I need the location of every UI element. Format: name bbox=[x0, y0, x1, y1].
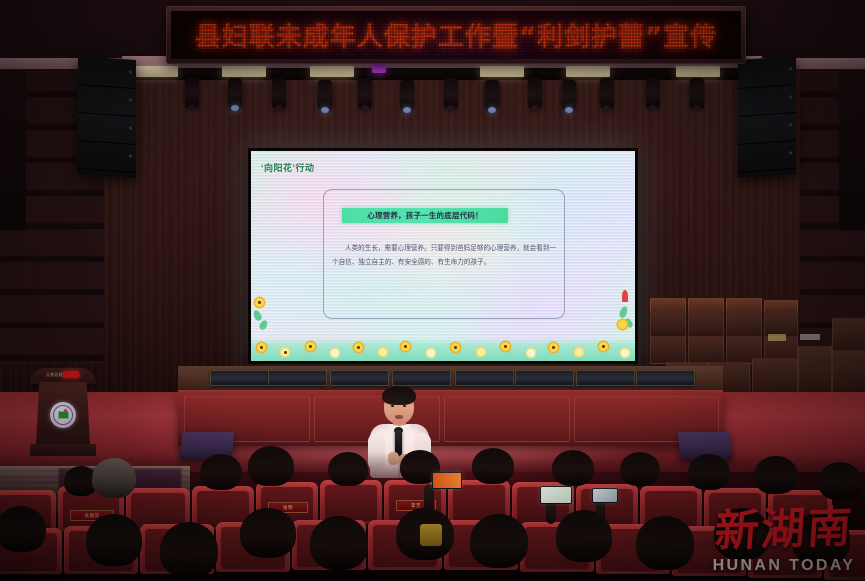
audience-head bbox=[0, 506, 46, 552]
name-placard bbox=[210, 370, 269, 386]
audience-head bbox=[160, 522, 218, 578]
name-placard bbox=[636, 370, 695, 386]
moving-head-light bbox=[646, 78, 660, 108]
moving-head-light bbox=[562, 80, 576, 110]
moving-head-light bbox=[528, 78, 542, 108]
audience-head bbox=[472, 448, 514, 484]
led-banner-screen: 县妇联未成年人保护工作暨“利剑护蕾”宣传 bbox=[171, 11, 741, 59]
audience-head bbox=[688, 454, 730, 490]
handbag bbox=[420, 524, 442, 546]
audience-head bbox=[636, 516, 694, 570]
audience-head bbox=[240, 508, 296, 558]
name-placard bbox=[455, 370, 514, 386]
moving-head-light bbox=[185, 78, 199, 108]
phone-recording bbox=[432, 472, 462, 489]
phone-recording bbox=[592, 488, 618, 503]
audience-head bbox=[86, 514, 142, 566]
name-placard bbox=[268, 370, 327, 386]
audience-head bbox=[754, 456, 798, 494]
box-light bbox=[134, 66, 178, 77]
box-light bbox=[566, 66, 610, 77]
line-array-speaker-left bbox=[78, 56, 136, 178]
box-light bbox=[222, 66, 266, 77]
podium-emblem-icon bbox=[50, 402, 76, 428]
watermark-chinese: 新湖南 bbox=[713, 506, 855, 555]
slide-header-label: ‘向阳花’行动 bbox=[261, 161, 315, 174]
projection-screen: ‘向阳花’行动 心理营养，孩子一生的底层代码！ 人类的生长，需要心理营养。只要得… bbox=[248, 148, 638, 364]
box-light bbox=[676, 66, 720, 77]
audience-head bbox=[328, 452, 368, 486]
led-banner: 县妇联未成年人保护工作暨“利剑护蕾”宣传 bbox=[166, 6, 746, 64]
moving-head-light bbox=[228, 78, 242, 108]
podium-top: 沅陵县融媒体中心 bbox=[30, 368, 96, 384]
audience-head bbox=[310, 516, 368, 570]
audience-head bbox=[248, 446, 294, 486]
slide-flower-border bbox=[251, 338, 635, 361]
audience-head bbox=[552, 450, 594, 486]
watermark-english: HUNAN TODAY bbox=[713, 557, 856, 575]
name-placard bbox=[330, 370, 389, 386]
led-banner-text: 县妇联未成年人保护工作暨“利剑护蕾”宣传 bbox=[171, 17, 741, 54]
line-array-speaker-right bbox=[738, 56, 796, 178]
audience-head bbox=[200, 454, 242, 490]
watermark: 新湖南 HUNAN TODAY bbox=[709, 495, 859, 575]
moving-head-light bbox=[690, 78, 704, 108]
podium-led-indicator bbox=[63, 371, 79, 378]
audience-head bbox=[92, 458, 136, 498]
moving-head-light bbox=[485, 80, 499, 110]
slide-vine-left bbox=[253, 296, 269, 338]
audience-head bbox=[620, 452, 660, 486]
presenter-hair bbox=[382, 386, 416, 405]
name-placard bbox=[392, 370, 451, 386]
slide-content-box: 心理营养，孩子一生的底层代码！ 人类的生长，需要心理营养。只要得到爸妈足够的心理… bbox=[323, 189, 565, 319]
name-placard bbox=[576, 370, 635, 386]
moving-head-light bbox=[600, 78, 614, 108]
moving-head-light bbox=[272, 78, 286, 108]
phone-recording bbox=[540, 486, 572, 504]
slide-vine-right bbox=[617, 290, 633, 338]
slide-body-text: 人类的生长，需要心理营养。只要得到爸妈足够的心理营养，就会看到一个自信、独立自主… bbox=[332, 242, 556, 270]
presenter-mouth bbox=[395, 415, 403, 419]
side-wall-speaker-left bbox=[0, 70, 26, 230]
accent-light-magenta bbox=[372, 64, 386, 73]
box-light bbox=[480, 66, 524, 77]
slide-surface: ‘向阳花’行动 心理营养，孩子一生的底层代码！ 人类的生长，需要心理营养。只要得… bbox=[251, 151, 635, 361]
slide-title-banner: 心理营养，孩子一生的底层代码！ bbox=[342, 208, 508, 223]
screenshot-root: 县妇联未成年人保护工作暨“利剑护蕾”宣传 ‘向阳花’行动 心理营养，孩子一生的底… bbox=[0, 0, 865, 581]
moving-head-light bbox=[318, 80, 332, 110]
lighting-truss bbox=[110, 68, 770, 80]
side-wall-speaker-right bbox=[839, 70, 865, 230]
box-light bbox=[310, 66, 354, 77]
name-placard bbox=[515, 370, 574, 386]
moving-head-light bbox=[400, 80, 414, 110]
stage-table-front bbox=[178, 392, 723, 446]
podium: 沅陵县融媒体中心 bbox=[28, 368, 98, 464]
moving-head-light bbox=[358, 78, 372, 108]
moving-head-light bbox=[444, 78, 458, 108]
audience-head bbox=[470, 514, 528, 568]
